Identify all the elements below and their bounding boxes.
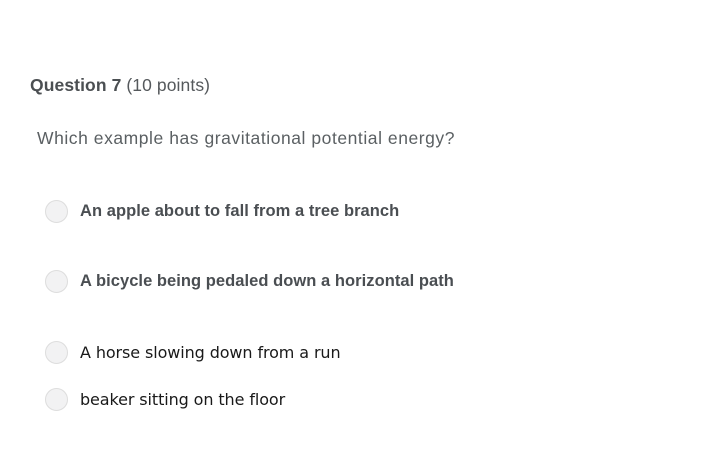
quiz-question-page: Question 7 (10 points) Which example has… <box>0 0 706 459</box>
question-points-label: (10 points) <box>126 75 210 95</box>
radio-button-icon[interactable] <box>45 388 68 411</box>
radio-button-icon[interactable] <box>45 341 68 364</box>
answer-option-1[interactable]: A bicycle being pedaled down a horizonta… <box>45 268 454 294</box>
answer-option-0[interactable]: An apple about to fall from a tree branc… <box>45 198 399 224</box>
answer-option-label: A horse slowing down from a run <box>80 343 341 362</box>
answer-option-label: An apple about to fall from a tree branc… <box>80 202 399 221</box>
answer-option-2[interactable]: A horse slowing down from a run <box>45 339 341 365</box>
radio-button-icon[interactable] <box>45 200 68 223</box>
question-header: Question 7 (10 points) <box>30 74 210 96</box>
answer-option-label: A bicycle being pedaled down a horizonta… <box>80 272 454 291</box>
question-prompt: Which example has gravitational potentia… <box>37 126 455 150</box>
radio-button-icon[interactable] <box>45 270 68 293</box>
question-number-label: Question 7 <box>30 75 121 95</box>
answer-option-3[interactable]: beaker sitting on the floor <box>45 386 285 412</box>
answer-option-label: beaker sitting on the floor <box>80 390 285 409</box>
